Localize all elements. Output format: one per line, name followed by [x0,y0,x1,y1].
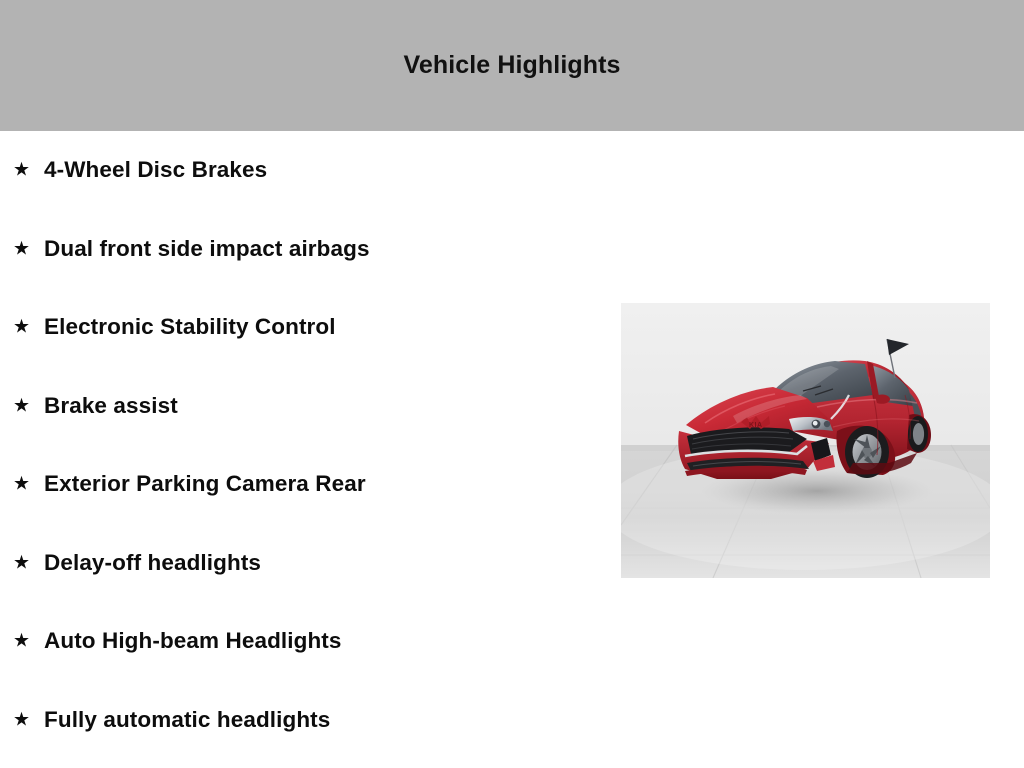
page-title: Vehicle Highlights [0,50,1024,80]
star-bullet-icon: ★ [13,161,30,180]
list-item-label: Auto High-beam Headlights [44,628,342,654]
star-bullet-icon: ★ [13,475,30,494]
list-item-label: Electronic Stability Control [44,314,336,340]
vehicle-photo: KIA [621,303,990,578]
list-item-label: 4-Wheel Disc Brakes [44,157,267,183]
star-bullet-icon: ★ [13,239,30,258]
list-item-label: Exterior Parking Camera Rear [44,471,366,497]
list-item: ★ Auto High-beam Headlights [0,602,600,681]
list-item-label: Fully automatic headlights [44,707,330,733]
list-item: ★ Electronic Stability Control [0,288,600,367]
header-bar: Vehicle Highlights [0,0,1024,131]
vehicle-highlights-list: ★ 4-Wheel Disc Brakes ★ Dual front side … [0,131,600,759]
svg-text:KIA: KIA [749,422,763,429]
list-item-label: Delay-off headlights [44,550,261,576]
list-item: ★ Dual front side impact airbags [0,210,600,289]
star-bullet-icon: ★ [13,553,30,572]
list-item: ★ Fully automatic headlights [0,681,600,760]
star-bullet-icon: ★ [13,632,30,651]
list-item-label: Brake assist [44,393,178,419]
star-bullet-icon: ★ [13,396,30,415]
list-item: ★ Exterior Parking Camera Rear [0,445,600,524]
list-item: ★ Delay-off headlights [0,524,600,603]
list-item: ★ 4-Wheel Disc Brakes [0,131,600,210]
vehicle-illustration: KIA [621,303,990,578]
star-bullet-icon: ★ [13,710,30,729]
list-item-label: Dual front side impact airbags [44,236,370,262]
star-bullet-icon: ★ [13,318,30,337]
list-item: ★ Brake assist [0,367,600,446]
